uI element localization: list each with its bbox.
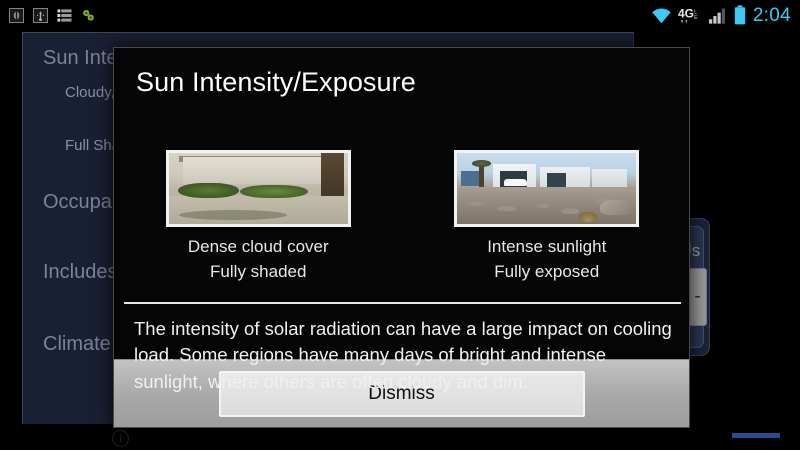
dialog-description-text: The intensity of solar radiation can hav… bbox=[134, 316, 674, 395]
caption-exposed-line2: Fully exposed bbox=[447, 261, 647, 284]
status-bar-right-icons: 4G L E 2:04 bbox=[651, 5, 800, 25]
signal-bars-icon bbox=[708, 7, 728, 24]
status-bar: 4G L E 2:04 bbox=[0, 0, 800, 30]
android-debug-icon bbox=[9, 8, 24, 23]
nav-accent-indicator bbox=[732, 433, 780, 438]
dense-cloud-cover-thumbnail bbox=[166, 150, 351, 227]
navigation-bar: i bbox=[0, 428, 800, 450]
dialog-image-row: Dense cloud cover Fully shaded bbox=[114, 150, 691, 283]
caption-exposed-line1: Intense sunlight bbox=[447, 236, 647, 259]
dialog-body: Dense cloud cover Fully shaded bbox=[114, 96, 689, 359]
sun-intensity-dialog: Sun Intensity/Exposure bbox=[113, 47, 690, 428]
dialog-title: Sun Intensity/Exposure bbox=[114, 48, 689, 96]
link-icon bbox=[81, 8, 96, 23]
image-column-shaded: Dense cloud cover Fully shaded bbox=[158, 150, 358, 283]
caption-shaded-line1: Dense cloud cover bbox=[158, 236, 358, 259]
bg-label-includes: Includes bbox=[43, 261, 118, 284]
phone-screen: Sun Intensity/Exposure Cloudy, Dim Brigh… bbox=[0, 0, 800, 450]
svg-text:E: E bbox=[694, 15, 698, 21]
status-bar-left-icons bbox=[0, 8, 96, 23]
info-icon[interactable]: i bbox=[112, 430, 129, 447]
dialog-divider bbox=[124, 302, 681, 304]
caption-shaded-line2: Fully shaded bbox=[158, 261, 358, 284]
intense-sunlight-thumbnail bbox=[454, 150, 639, 227]
usb-icon bbox=[33, 8, 48, 23]
list-icon bbox=[57, 8, 72, 23]
svg-text:4G: 4G bbox=[678, 6, 694, 20]
wifi-icon bbox=[651, 7, 672, 24]
image-column-exposed: Intense sunlight Fully exposed bbox=[447, 150, 647, 283]
battery-icon bbox=[734, 5, 746, 25]
4g-lte-icon: 4G L E bbox=[678, 6, 702, 25]
status-bar-clock: 2:04 bbox=[752, 6, 791, 25]
